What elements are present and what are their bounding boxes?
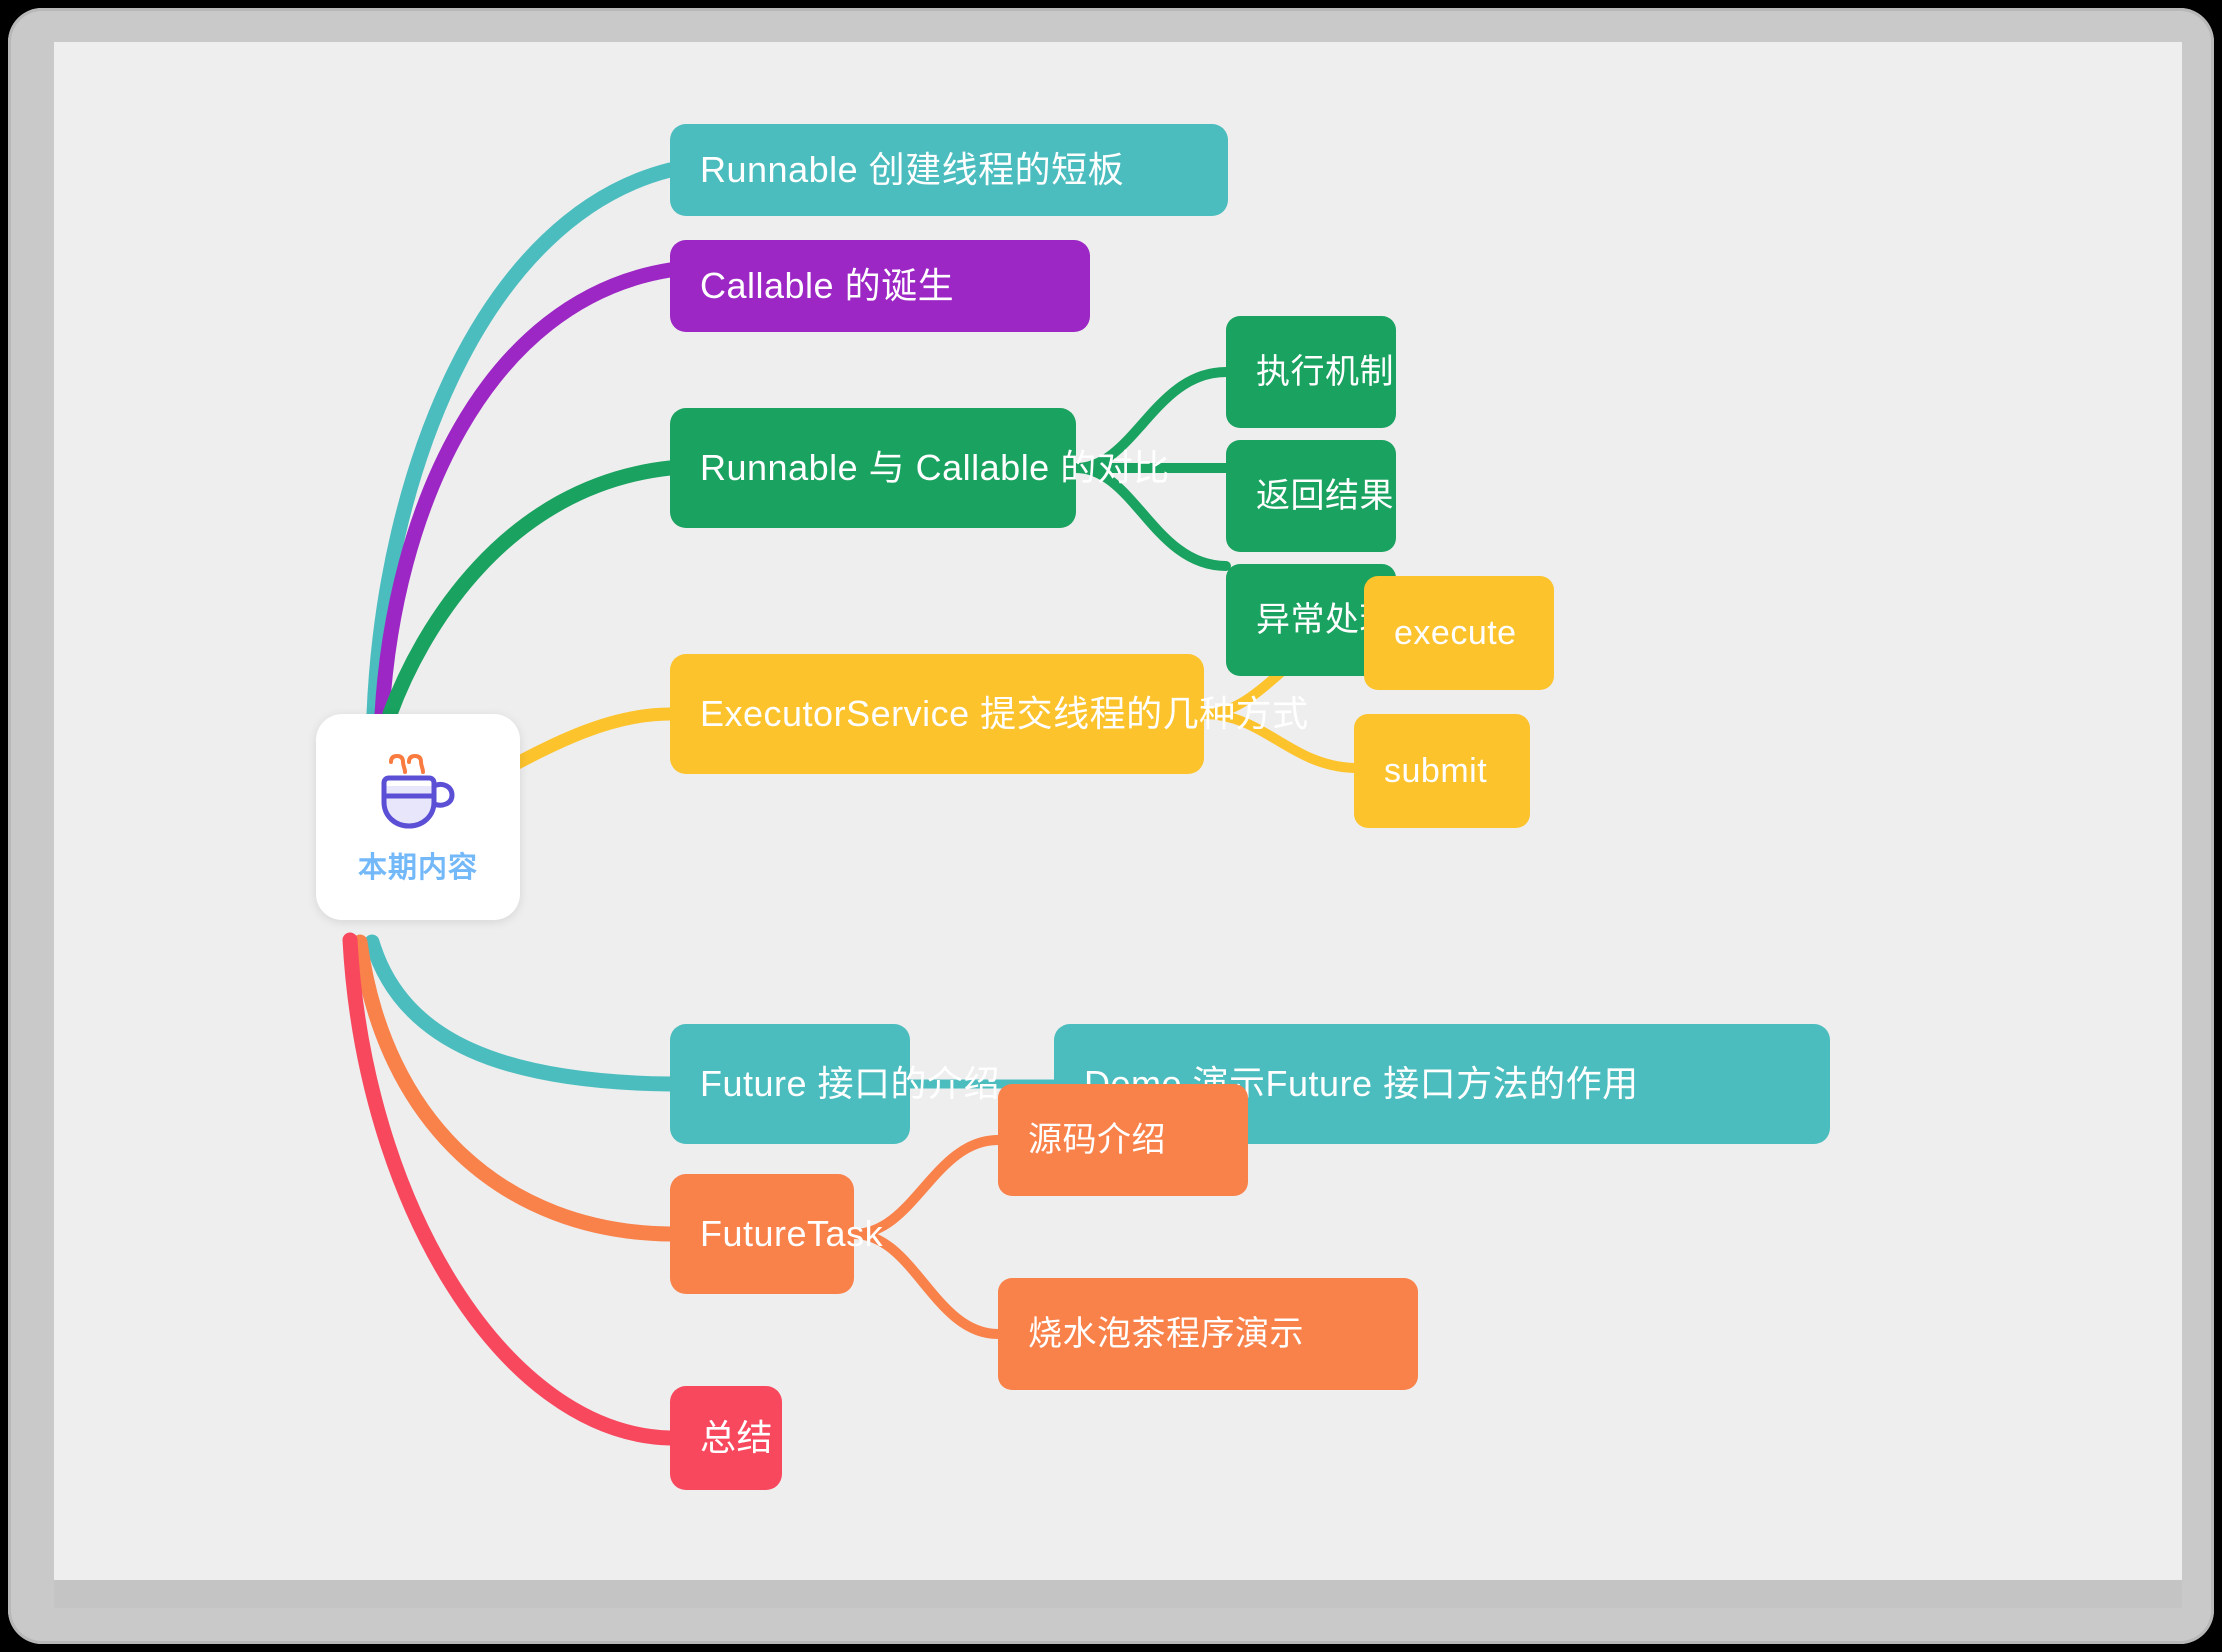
node-executorservice[interactable]: ExecutorService 提交线程的几种方式	[670, 654, 1204, 774]
node-boil-water-demo[interactable]: 烧水泡茶程序演示	[998, 1278, 1418, 1390]
node-future-interface[interactable]: Future 接口的介绍	[670, 1024, 910, 1144]
node-return-result[interactable]: 返回结果	[1226, 440, 1396, 552]
node-label: submit	[1384, 754, 1487, 788]
node-submit-method[interactable]: submit	[1354, 714, 1530, 828]
edge-root-to-futuretask	[360, 942, 670, 1234]
node-label: FutureTask	[700, 1216, 883, 1252]
node-execution-mechanism[interactable]: 执行机制	[1226, 316, 1396, 428]
horizontal-scrollbar[interactable]	[54, 1580, 2182, 1608]
edge-root-to-summary	[350, 940, 670, 1438]
node-label: 返回结果	[1256, 479, 1394, 513]
node-label: 总结	[700, 1420, 773, 1456]
root-node-label: 本期内容	[358, 844, 478, 886]
mindmap-canvas[interactable]: 本期内容 Runnable 创建线程的短板 Callable 的诞生 Runna…	[54, 42, 2182, 1580]
node-label: Future 接口的介绍	[700, 1066, 1000, 1102]
coffee-cup-icon	[372, 748, 464, 832]
device-frame: 本期内容 Runnable 创建线程的短板 Callable 的诞生 Runna…	[8, 8, 2214, 1644]
node-label: ExecutorService 提交线程的几种方式	[700, 696, 1309, 732]
edge-root-to-callable-birth	[382, 270, 670, 714]
node-label: Callable 的诞生	[700, 268, 954, 304]
node-runnable-shortcoming[interactable]: Runnable 创建线程的短板	[670, 124, 1228, 216]
node-execute-method[interactable]: execute	[1364, 576, 1554, 690]
node-label: Runnable 与 Callable 的对比	[700, 450, 1170, 486]
edge-root-to-runnable-vs-callable	[390, 468, 670, 714]
node-label: 源码介绍	[1028, 1123, 1166, 1157]
mindmap-stage: 本期内容 Runnable 创建线程的短板 Callable 的诞生 Runna…	[54, 42, 2182, 1580]
node-source-intro[interactable]: 源码介绍	[998, 1084, 1248, 1196]
node-label: execute	[1394, 616, 1517, 650]
node-runnable-vs-callable[interactable]: Runnable 与 Callable 的对比	[670, 408, 1076, 528]
node-futuretask[interactable]: FutureTask	[670, 1174, 854, 1294]
node-callable-birth[interactable]: Callable 的诞生	[670, 240, 1090, 332]
node-label: 烧水泡茶程序演示	[1028, 1317, 1304, 1351]
node-label: 执行机制	[1256, 355, 1394, 389]
node-label: Runnable 创建线程的短板	[700, 152, 1124, 188]
node-summary[interactable]: 总结	[670, 1386, 782, 1490]
root-node[interactable]: 本期内容	[316, 714, 520, 920]
edge-root-to-future-interface	[372, 942, 670, 1084]
edge-root-to-runnable-shortcoming	[374, 170, 670, 714]
